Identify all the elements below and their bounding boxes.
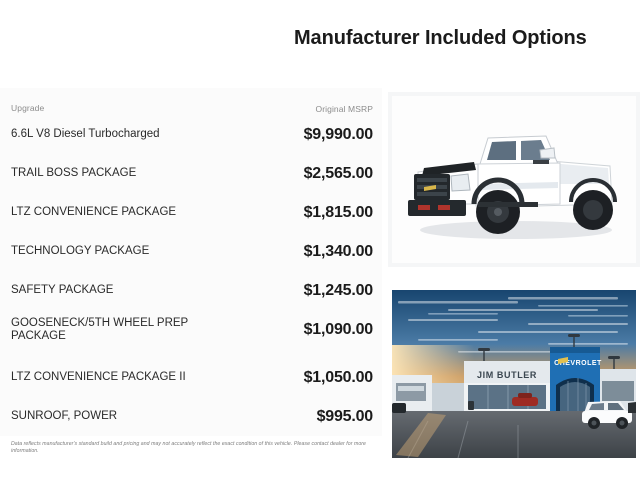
table-row[interactable]: GOOSENECK/5TH WHEEL PREP PACKAGE $1,090.… <box>0 315 382 345</box>
included-options-panel: Upgrade Original MSRP 6.6L V8 Diesel Tur… <box>0 88 382 436</box>
option-price: $1,090.00 <box>213 321 373 339</box>
vehicle-photo-graphic <box>388 92 640 267</box>
option-price: $9,990.00 <box>213 126 373 144</box>
table-row[interactable]: TRAIL BOSS PACKAGE $2,565.00 <box>0 159 382 189</box>
vehicle-photo[interactable] <box>388 92 640 267</box>
option-price: $2,565.00 <box>213 165 373 183</box>
table-row[interactable]: 6.6L V8 Diesel Turbocharged $9,990.00 <box>0 120 382 150</box>
vehicle-options-page: Manufacturer Included Options Upgrade Or… <box>0 0 640 480</box>
page-title: Manufacturer Included Options <box>294 26 624 50</box>
option-price: $1,340.00 <box>213 243 373 261</box>
disclaimer-text: Data reflects manufacturer's standard bu… <box>11 441 375 456</box>
table-row[interactable]: TECHNOLOGY PACKAGE $1,340.00 <box>0 237 382 267</box>
dealership-photo-graphic: JIM BUTLER CHEVROLET <box>388 285 640 463</box>
option-price: $1,815.00 <box>213 204 373 222</box>
table-row[interactable]: LTZ CONVENIENCE PACKAGE $1,815.00 <box>0 198 382 228</box>
svg-text:JIM BUTLER: JIM BUTLER <box>477 370 537 380</box>
dealership-photo[interactable]: JIM BUTLER CHEVROLET <box>388 285 640 463</box>
option-price: $1,245.00 <box>213 282 373 300</box>
option-name: GOOSENECK/5TH WHEEL PREP PACKAGE <box>11 317 211 344</box>
table-row[interactable]: SUNROOF, POWER $995.00 <box>0 402 382 432</box>
column-header-msrp: Original MSRP <box>213 100 373 118</box>
table-row[interactable]: SAFETY PACKAGE $1,245.00 <box>0 276 382 306</box>
table-row[interactable]: LTZ CONVENIENCE PACKAGE II $1,050.00 <box>0 363 382 393</box>
option-price: $1,050.00 <box>213 369 373 387</box>
option-price: $995.00 <box>213 408 373 426</box>
